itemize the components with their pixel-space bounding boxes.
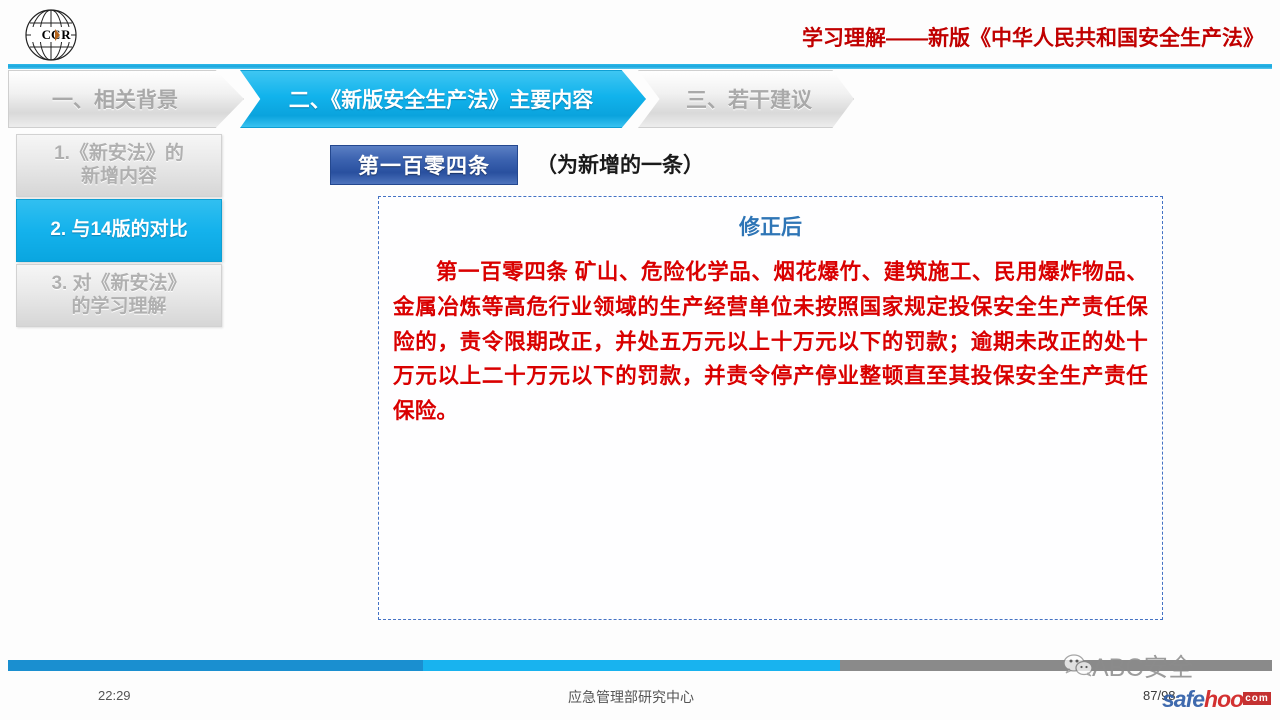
wechat-icon <box>1063 652 1093 678</box>
footer-bar-left <box>8 660 423 671</box>
content-heading: 修正后 <box>379 211 1162 241</box>
sidebar: 1.《新安法》的 新增内容 2. 与14版的对比 3. 对《新安法》 的学习理解 <box>16 134 222 329</box>
safehoo-part-2: hoo <box>1204 686 1243 712</box>
footer-bar-right <box>840 660 1272 671</box>
tab-section-3[interactable]: 三、若干建议 <box>638 70 854 128</box>
footer-time: 22:29 <box>98 688 131 703</box>
sidebar-item-new-content[interactable]: 1.《新安法》的 新增内容 <box>16 134 222 197</box>
header-divider <box>8 64 1272 69</box>
watermark-abc-safety: ABC安全 <box>1092 648 1193 684</box>
content-body: 第一百零四条 矿山、危险化学品、烟花爆竹、建筑施工、民用爆炸物品、金属冶炼等高危… <box>393 255 1148 429</box>
section-tabs: 一、相关背景 二、《新版安全生产法》主要内容 三、若干建议 <box>8 70 868 128</box>
svg-text:R: R <box>61 27 71 42</box>
footer-bar-middle <box>423 660 840 671</box>
sidebar-item-label: 2. 与14版的对比 <box>50 219 187 241</box>
sidebar-item-label: 1.《新安法》的 新增内容 <box>54 143 184 188</box>
footer-organization: 应急管理部研究中心 <box>568 687 694 707</box>
sidebar-item-label: 3. 对《新安法》 的学习理解 <box>51 273 186 318</box>
article-note: （为新增的一条） <box>536 149 704 179</box>
sidebar-item-comparison[interactable]: 2. 与14版的对比 <box>16 199 222 262</box>
safehoo-part-3: com <box>1243 692 1271 705</box>
sidebar-item-study[interactable]: 3. 对《新安法》 的学习理解 <box>16 264 222 327</box>
article-number-badge: 第一百零四条 <box>330 145 518 185</box>
content-panel: 修正后 第一百零四条 矿山、危险化学品、烟花爆竹、建筑施工、民用爆炸物品、金属冶… <box>378 196 1163 620</box>
slide-canvas: CC R 学习理解——新版《中华人民共和国安全生产法》 一、相关背景 二、《新版… <box>0 0 1280 720</box>
safehoo-part-1: safe <box>1162 686 1204 712</box>
ccsr-logo: CC R <box>22 7 80 63</box>
page-title: 学习理解——新版《中华人民共和国安全生产法》 <box>802 22 1264 52</box>
tab-section-2[interactable]: 二、《新版安全生产法》主要内容 <box>240 70 646 128</box>
tab-section-1[interactable]: 一、相关背景 <box>8 70 244 128</box>
watermark-safehoo: safehoocom <box>1162 686 1271 713</box>
